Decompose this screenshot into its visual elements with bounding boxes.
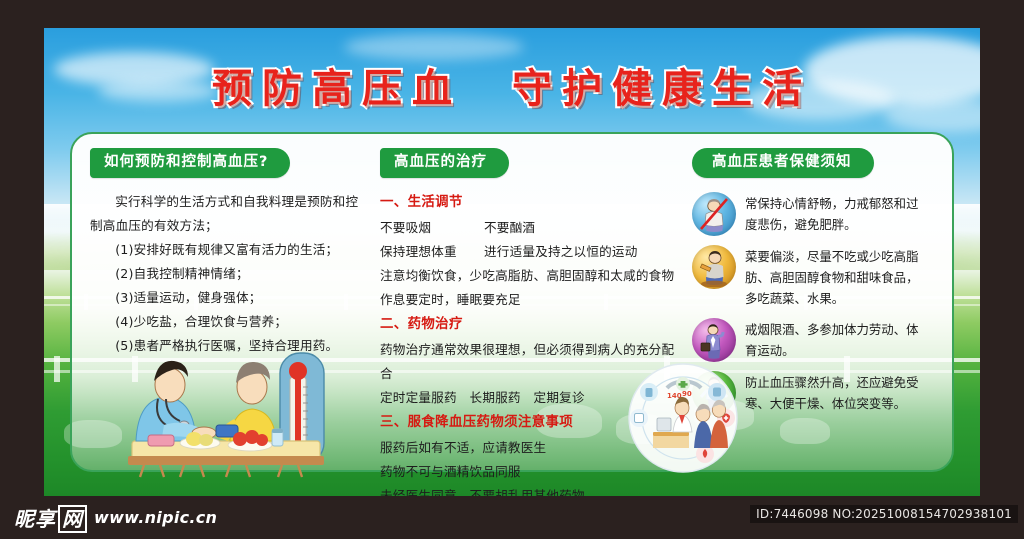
section-heading-patient-care: 高血压患者保健须知 <box>692 148 874 178</box>
light-diet-icon <box>692 245 736 289</box>
patient-care-tip-list: 常保持心情舒畅，力戒郁怒和过度悲伤，避免肥胖。 <box>692 192 926 415</box>
treatment-body-2: 药物治疗通常效果很理想，但必须得到病人的充分配合 定时定量服药 长期服药 定期复… <box>380 338 680 410</box>
prevention-body: 实行科学的生活方式和自我料理是预防和控制高血压的有效方法； (1)安排好既有规律… <box>90 190 366 358</box>
treatment-line: 定时定量服药 长期服药 定期复诊 <box>380 386 680 410</box>
treatment-line: 药物不可与酒精饮品同服 <box>380 460 680 484</box>
section-heading-treatment: 高血压的治疗 <box>380 148 509 178</box>
prevention-paragraph: 实行科学的生活方式和自我料理是预防和控制高血压的有效方法； <box>90 190 366 238</box>
treatment-pair: 保持理想体重 进行适量及持之以恒的运动 <box>380 240 680 264</box>
column-treatment: 高血压的治疗 一、生活调节 不要吸烟 不要酗酒 保持理想体重 进行适量及持之以恒… <box>372 148 684 470</box>
treatment-pair-right: 进行适量及持之以恒的运动 <box>484 240 638 264</box>
tip-text: 菜要偏淡，尽量不吃或少吃高脂肪、高胆固醇食物和甜味食品，多吃蔬菜、水果。 <box>745 245 926 309</box>
treatment-subheading-3: 三、服食降血压药物须注意事项 <box>380 410 680 436</box>
page-title: 预防高压血 守护健康生活 <box>212 56 812 114</box>
content-panel: 如何预防和控制高血压? 实行科学的生活方式和自我料理是预防和控制高血压的有效方法… <box>70 132 954 472</box>
treatment-line: 药物治疗通常效果很理想，但必须得到病人的充分配合 <box>380 338 680 386</box>
prevention-paragraph: (1)安排好既有规律又富有活力的生活； <box>90 238 366 262</box>
column-prevention: 如何预防和控制高血压? 实行科学的生活方式和自我料理是预防和控制高血压的有效方法… <box>82 148 372 470</box>
nipic-logo-cn-boxed: 网 <box>58 505 87 533</box>
treatment-pair: 不要吸烟 不要酗酒 <box>380 216 680 240</box>
nipic-logo: 昵享网 www.nipic.cn <box>14 503 217 532</box>
tip-text: 防止血压骤然升高，还应避免受寒、大便干燥、体位突变等。 <box>745 371 926 414</box>
no-obesity-icon <box>692 192 736 236</box>
tip-text: 常保持心情舒畅，力戒郁怒和过度悲伤，避免肥胖。 <box>745 192 926 235</box>
prevention-paragraph: (2)自我控制精神情绪； <box>90 262 366 286</box>
screenshot-root: 预防高压血 守护健康生活 如何预防和控制高血压? 实行科学的生活方式和自我料理是… <box>0 0 1024 539</box>
prevention-paragraph: (3)适量运动，健身强体； <box>90 286 366 310</box>
list-item: 防止血压骤然升高，还应避免受寒、大便干燥、体位突变等。 <box>692 371 926 415</box>
list-item: 常保持心情舒畅，力戒郁怒和过度悲伤，避免肥胖。 <box>692 192 926 236</box>
prevention-paragraph: (4)少吃盐，合理饮食与营养； <box>90 310 366 334</box>
list-item: 菜要偏淡，尽量不吃或少吃高脂肪、高胆固醇食物和甜味食品，多吃蔬菜、水果。 <box>692 245 926 309</box>
treatment-pair-right: 不要酗酒 <box>484 216 535 240</box>
nipic-logo-cn: 昵享网 <box>14 503 87 532</box>
treatment-line: 作息要定时，睡眠要充足 <box>380 288 680 312</box>
tip-text: 戒烟限酒、多参加体力劳动、体育运动。 <box>745 318 926 361</box>
column-patient-care: 高血压患者保健须知 <box>684 148 932 470</box>
avoid-bp-spike-icon <box>692 371 736 415</box>
treatment-line: 未经医生同意，不要胡乱用其他药物 <box>380 484 680 497</box>
treatment-body-3: 服药后如有不适，应请教医生 药物不可与酒精饮品同服 未经医生同意，不要胡乱用其他… <box>380 436 680 497</box>
fence-post <box>54 356 60 382</box>
section-heading-prevention: 如何预防和控制高血压? <box>90 148 290 178</box>
poster-title-bar: 预防高压血 守护健康生活 <box>44 56 980 114</box>
watermark-footer: 昵享网 www.nipic.cn ID:7446098 NO:202510081… <box>0 496 1024 539</box>
image-id-text: ID:7446098 NO:20251008154702938101 <box>750 505 1018 523</box>
nipic-url: www.nipic.cn <box>94 508 217 527</box>
poster-canvas: 预防高压血 守护健康生活 如何预防和控制高血压? 实行科学的生活方式和自我料理是… <box>44 28 980 496</box>
prevention-paragraph: (5)患者严格执行医嘱，坚持合理用药。 <box>90 334 366 358</box>
treatment-line: 注意均衡饮食，少吃高脂肪、高胆固醇和太咸的食物 <box>380 264 680 288</box>
treatment-pair-left: 不要吸烟 <box>380 216 484 240</box>
nipic-logo-cn-text: 昵享 <box>14 507 56 531</box>
treatment-body-1: 不要吸烟 不要酗酒 保持理想体重 进行适量及持之以恒的运动 注意均衡饮食，少吃高… <box>380 216 680 312</box>
treatment-subheading-2: 二、药物治疗 <box>380 312 680 338</box>
treatment-subheading-1: 一、生活调节 <box>380 190 680 216</box>
treatment-pair-left: 保持理想体重 <box>380 240 484 264</box>
quit-smoking-exercise-icon <box>692 318 736 362</box>
list-item: 戒烟限酒、多参加体力劳动、体育运动。 <box>692 318 926 362</box>
treatment-line: 服药后如有不适，应请教医生 <box>380 436 680 460</box>
